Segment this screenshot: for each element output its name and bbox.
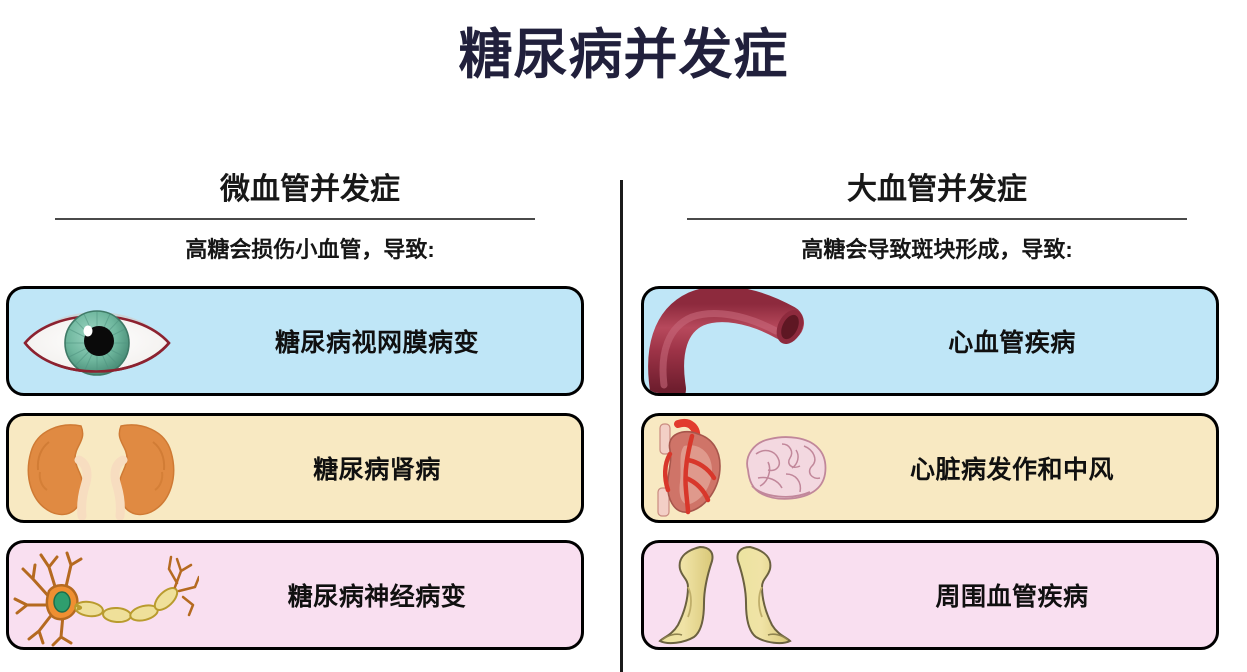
card-list-microvascular: 糖尿病视网膜病变 — [0, 286, 620, 650]
eye-icon — [9, 289, 199, 393]
card-diabetic-nephropathy[interactable]: 糖尿病肾病 — [6, 413, 584, 523]
card-heart-attack-stroke[interactable]: 心脏病发作和中风 — [641, 413, 1219, 523]
column-macrovascular: 大血管并发症 高糖会导致斑块形成，导致: — [627, 168, 1247, 672]
column-subtitle-microvascular: 高糖会损伤小血管，导致: — [0, 232, 620, 264]
card-label: 周围血管疾病 — [834, 577, 1216, 613]
card-label: 心脏病发作和中风 — [834, 450, 1216, 486]
column-microvascular: 微血管并发症 高糖会损伤小血管，导致: — [0, 168, 620, 672]
column-rule — [687, 218, 1187, 220]
card-label: 糖尿病神经病变 — [199, 577, 581, 613]
columns-container: 微血管并发症 高糖会损伤小血管，导致: — [0, 168, 1247, 672]
heart-brain-icon — [644, 416, 834, 520]
column-subtitle-macrovascular: 高糖会导致斑块形成，导致: — [627, 232, 1247, 264]
card-diabetic-retinopathy[interactable]: 糖尿病视网膜病变 — [6, 286, 584, 396]
card-label: 糖尿病肾病 — [199, 450, 581, 486]
card-diabetic-neuropathy[interactable]: 糖尿病神经病变 — [6, 540, 584, 650]
card-cardiovascular-disease[interactable]: 心血管疾病 — [641, 286, 1219, 396]
neuron-icon — [9, 543, 199, 647]
card-label: 糖尿病视网膜病变 — [199, 323, 581, 359]
column-rule — [55, 218, 535, 220]
card-peripheral-vascular-disease[interactable]: 周围血管疾病 — [641, 540, 1219, 650]
column-title-macrovascular: 大血管并发症 — [627, 172, 1247, 208]
card-label: 心血管疾病 — [834, 323, 1216, 359]
column-title-microvascular: 微血管并发症 — [0, 172, 620, 208]
kidney-icon — [9, 416, 199, 520]
page-title: 糖尿病并发症 — [0, 24, 1247, 86]
legs-icon — [644, 543, 834, 647]
column-divider — [620, 180, 623, 672]
card-list-macrovascular: 心血管疾病 — [627, 286, 1247, 650]
blood-vessel-icon — [644, 289, 834, 393]
